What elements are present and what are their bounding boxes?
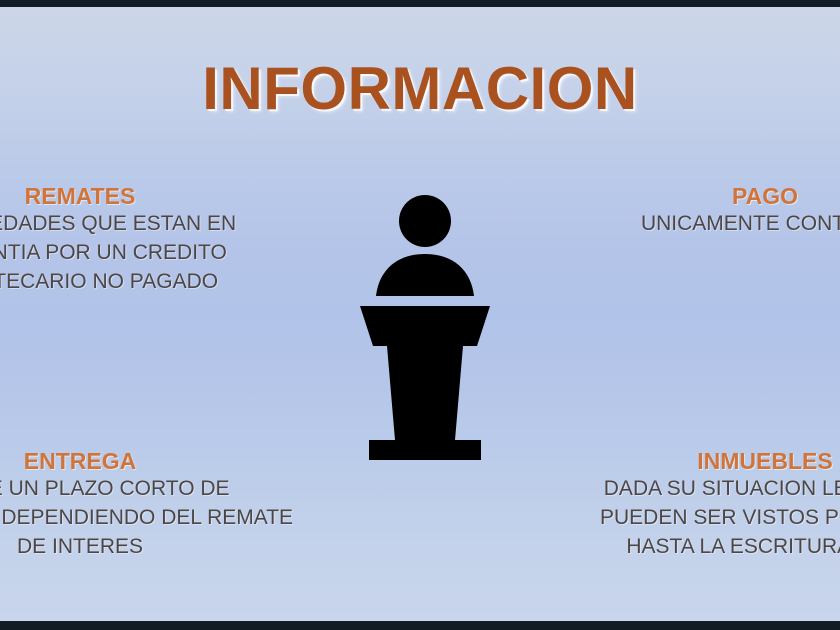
block-line: PUEDEN SER VISTOS POR DENTRO: [600, 503, 840, 532]
letterbox-top-bar: [0, 0, 840, 7]
block-line: DESDE UN PLAZO CORTO DE: [0, 474, 245, 503]
presentation-slide: INFORMACION REMATES PROPIEDADES QUE ESTA…: [0, 0, 840, 630]
text-block-remates: REMATES PROPIEDADES QUE ESTAN EN GARANTI…: [0, 183, 245, 296]
text-block-pago: PAGO UNICAMENTE CONTADO: [600, 183, 840, 238]
block-heading-pago: PAGO: [600, 183, 840, 209]
block-line: GARANTIA POR UN CREDITO: [0, 238, 245, 267]
block-line: DE INTERES: [0, 532, 245, 561]
block-line: PROPIEDADES QUE ESTAN EN: [0, 209, 245, 238]
block-line: TIEMPO DEPENDIENDO DEL REMATE: [0, 503, 245, 532]
page-title: INFORMACION: [0, 54, 840, 123]
block-heading-entrega: ENTREGA: [0, 448, 245, 474]
letterbox-bottom-bar: [0, 621, 840, 630]
podium-speaker-icon: [355, 188, 495, 468]
block-line: UNICAMENTE CONTADO: [600, 209, 840, 238]
text-block-entrega: ENTREGA DESDE UN PLAZO CORTO DE TIEMPO D…: [0, 448, 245, 561]
text-block-inmuebles: INMUEBLES DADA SU SITUACION LEGAL NO PUE…: [600, 448, 840, 561]
block-line: DADA SU SITUACION LEGAL NO: [600, 474, 840, 503]
block-heading-inmuebles: INMUEBLES: [600, 448, 840, 474]
block-line: HASTA LA ESCRITURACION: [600, 532, 840, 561]
block-line: HIPOTECARIO NO PAGADO: [0, 267, 245, 296]
block-heading-remates: REMATES: [0, 183, 245, 209]
